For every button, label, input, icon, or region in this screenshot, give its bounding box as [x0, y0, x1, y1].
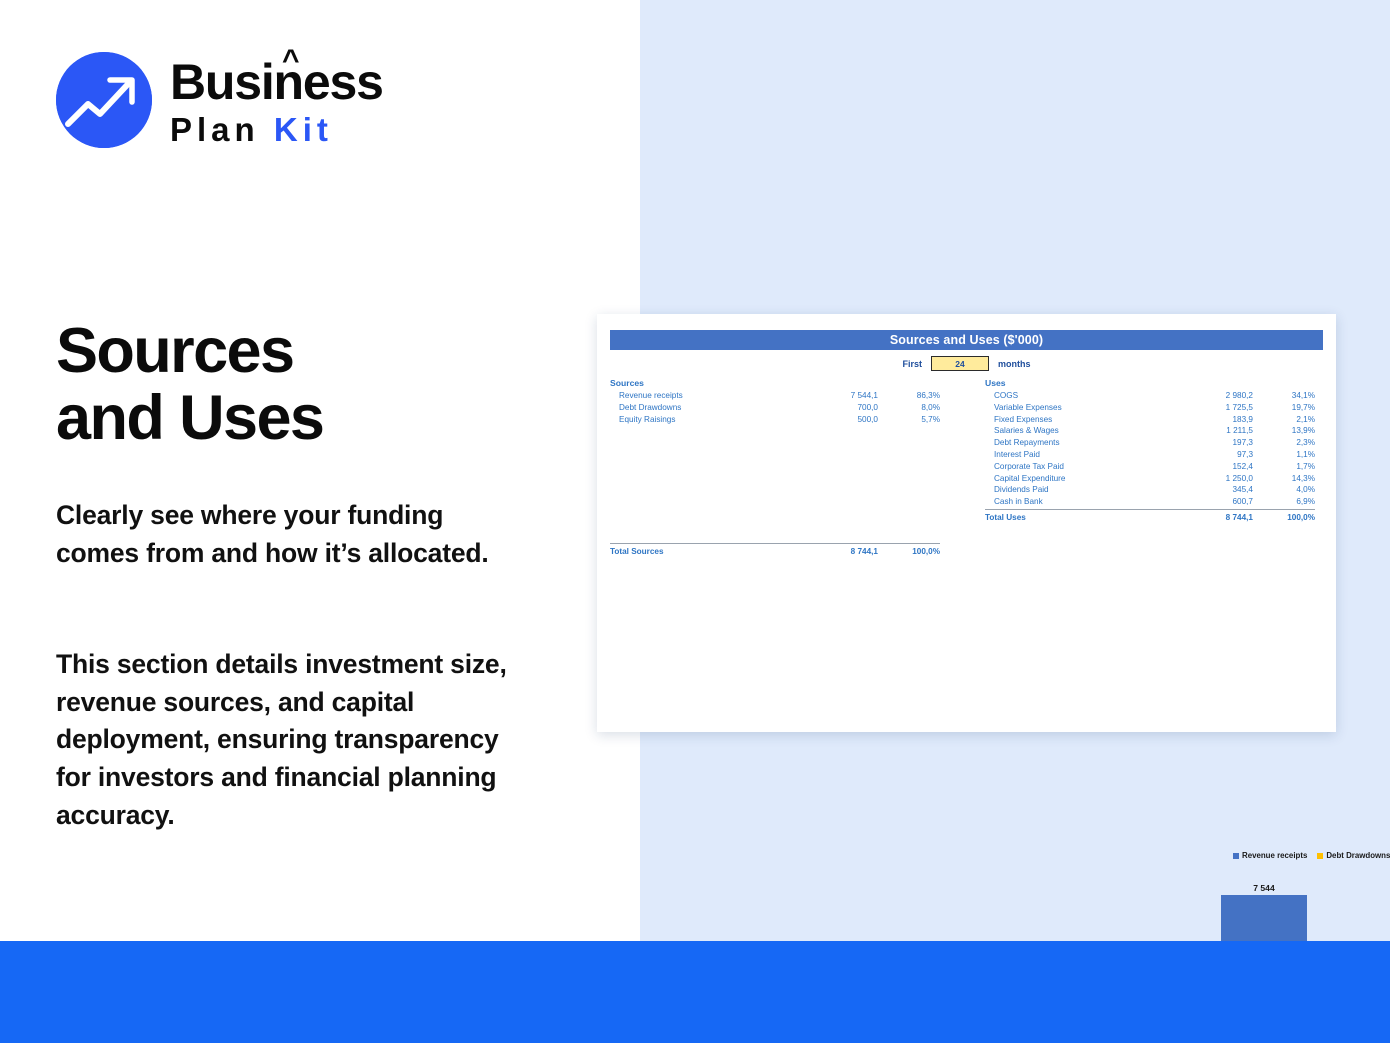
legend-item-label: Revenue receipts	[1242, 851, 1307, 860]
uses-row-name: Fixed Expenses	[985, 414, 1169, 426]
brand-circumflex-accent: ^	[282, 46, 298, 76]
spreadsheet-preview-card: Sources and Uses ($'000) First 24 months…	[597, 314, 1336, 732]
uses-total-value: 8 744,1	[1169, 511, 1253, 525]
table-row: Salaries & Wages1 211,513,9%	[985, 425, 1315, 437]
uses-row-pct: 14,3%	[1253, 473, 1315, 485]
table-row: Cash in Bank600,76,9%	[985, 496, 1315, 508]
legend-item: Revenue receipts	[1233, 851, 1307, 860]
uses-row-name: COGS	[985, 390, 1169, 402]
brand-name-primary-text: Business	[170, 54, 383, 110]
uses-row-name: Debt Repayments	[985, 437, 1169, 449]
sources-rows: Revenue receipts7 544,186,3%Debt Drawdow…	[610, 390, 940, 425]
uses-row-name: Interest Paid	[985, 449, 1169, 461]
sources-total-row: Total Sources 8 744,1 100,0%	[610, 543, 940, 557]
uses-row-name: Dividends Paid	[985, 484, 1169, 496]
uses-row-pct: 2,1%	[1253, 414, 1315, 426]
table-row: Dividends Paid345,44,0%	[985, 484, 1315, 496]
uses-row-name: Corporate Tax Paid	[985, 461, 1169, 473]
sources-row-pct: 8,0%	[878, 402, 940, 414]
uses-row-value: 152,4	[1169, 461, 1253, 473]
legend-swatch-icon	[1317, 853, 1323, 859]
period-suffix-label: months	[998, 359, 1031, 369]
footer-accent-bar	[0, 941, 1390, 1043]
uses-row-pct: 2,3%	[1253, 437, 1315, 449]
table-row: Corporate Tax Paid152,41,7%	[985, 461, 1315, 473]
table-row: Interest Paid97,31,1%	[985, 449, 1315, 461]
hero-lede-text: Clearly see where your funding comes fro…	[56, 497, 526, 572]
brand-name-secondary: Plan Kit	[170, 113, 383, 146]
uses-row-pct: 1,7%	[1253, 461, 1315, 473]
sources-row-pct: 5,7%	[878, 414, 940, 426]
uses-total-label: Total Uses	[985, 511, 1169, 525]
brand-logo: Business ^ Plan Kit	[56, 52, 383, 148]
period-selector-row: First 24 months	[610, 356, 1323, 371]
period-prefix-label: First	[902, 359, 922, 369]
sources-total-pct: 100,0%	[878, 545, 940, 559]
brand-name-secondary-accent: Kit	[274, 111, 333, 148]
uses-total-pct: 100,0%	[1253, 511, 1315, 525]
sources-row-value: 7 544,1	[794, 390, 878, 402]
sources-row-value: 700,0	[794, 402, 878, 414]
uses-row-value: 1 250,0	[1169, 473, 1253, 485]
sources-total-label: Total Sources	[610, 545, 794, 559]
uses-row-name: Capital Expenditure	[985, 473, 1169, 485]
sources-row-name: Equity Raisings	[610, 414, 794, 426]
sources-row-name: Revenue receipts	[610, 390, 794, 402]
slide-canvas: Business ^ Plan Kit Sources and Uses Cle…	[0, 0, 1390, 1043]
sources-heading: Sources	[610, 378, 940, 388]
uses-row-value: 600,7	[1169, 496, 1253, 508]
uses-row-pct: 19,7%	[1253, 402, 1315, 414]
sources-total-value: 8 744,1	[794, 545, 878, 559]
sources-row-name: Debt Drawdowns	[610, 402, 794, 414]
uses-row-value: 183,9	[1169, 414, 1253, 426]
uses-row-pct: 1,1%	[1253, 449, 1315, 461]
uses-row-name: Variable Expenses	[985, 402, 1169, 414]
uses-row-value: 345,4	[1169, 484, 1253, 496]
uses-row-value: 197,3	[1169, 437, 1253, 449]
uses-row-value: 97,3	[1169, 449, 1253, 461]
growth-arrow-circle-icon	[56, 52, 152, 148]
sources-row-value: 500,0	[794, 414, 878, 426]
table-row: Revenue receipts7 544,186,3%	[610, 390, 940, 402]
uses-row-pct: 6,9%	[1253, 496, 1315, 508]
sources-chart-legend: Revenue receiptsDebt DrawdownsEquity Rai…	[1233, 851, 1390, 863]
uses-table: Uses COGS2 980,234,1%Variable Expenses1 …	[985, 378, 1315, 523]
uses-rows: COGS2 980,234,1%Variable Expenses1 725,5…	[985, 390, 1315, 508]
uses-row-pct: 13,9%	[1253, 425, 1315, 437]
table-row: Capital Expenditure1 250,014,3%	[985, 473, 1315, 485]
uses-heading: Uses	[985, 378, 1315, 388]
legend-item-label: Debt Drawdowns	[1326, 851, 1390, 860]
sheet-title: Sources and Uses ($'000)	[610, 330, 1323, 350]
hero-body-text: This section details investment size, re…	[56, 646, 526, 834]
uses-row-value: 2 980,2	[1169, 390, 1253, 402]
uses-row-pct: 4,0%	[1253, 484, 1315, 496]
uses-row-name: Salaries & Wages	[985, 425, 1169, 437]
table-row: Equity Raisings500,05,7%	[610, 414, 940, 426]
uses-row-pct: 34,1%	[1253, 390, 1315, 402]
page-title: Sources and Uses	[56, 318, 576, 453]
table-row: Debt Repayments197,32,3%	[985, 437, 1315, 449]
bar-value-label: 7 544	[1253, 883, 1275, 893]
uses-row-value: 1 725,5	[1169, 402, 1253, 414]
table-row: Fixed Expenses183,92,1%	[985, 414, 1315, 426]
uses-row-name: Cash in Bank	[985, 496, 1169, 508]
uses-total-row: Total Uses 8 744,1 100,0%	[985, 509, 1315, 523]
brand-name-primary: Business ^	[170, 57, 383, 107]
brand-name-secondary-plain: Plan	[170, 111, 274, 148]
table-row: COGS2 980,234,1%	[985, 390, 1315, 402]
sources-row-pct: 86,3%	[878, 390, 940, 402]
months-input[interactable]: 24	[931, 356, 989, 371]
table-row: Variable Expenses1 725,519,7%	[985, 402, 1315, 414]
legend-swatch-icon	[1233, 853, 1239, 859]
legend-item: Debt Drawdowns	[1317, 851, 1390, 860]
table-row: Debt Drawdowns700,08,0%	[610, 402, 940, 414]
sources-table: Sources Revenue receipts7 544,186,3%Debt…	[610, 378, 940, 557]
uses-row-value: 1 211,5	[1169, 425, 1253, 437]
